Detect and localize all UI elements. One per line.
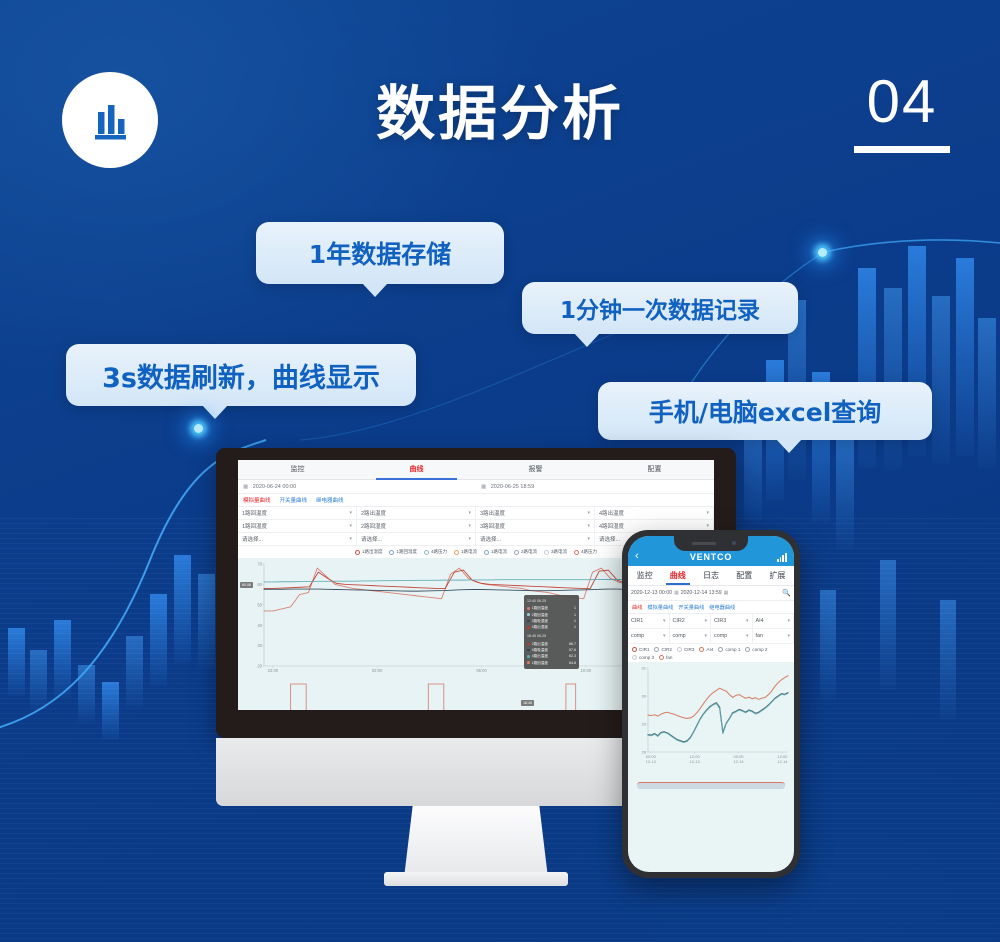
- legend-item[interactable]: CIR2: [654, 647, 671, 652]
- legend-marker-icon: [718, 647, 723, 652]
- legend-label: comp 1: [725, 647, 740, 652]
- legend-marker-icon: [677, 647, 682, 652]
- tooltip-marker-icon: [527, 649, 530, 652]
- legend-item[interactable]: 4路压力: [424, 549, 447, 555]
- desktop-select-3-4-value: 请选择...: [599, 535, 620, 543]
- phone-notch: [674, 536, 748, 551]
- legend-item[interactable]: CIR1: [632, 647, 649, 652]
- speaker-icon: [692, 542, 716, 545]
- tooltip-marker-icon: [527, 613, 530, 616]
- tooltip-time-2: 18:45 06-25: [527, 633, 576, 639]
- tooltip-row: 4路出湿度1: [527, 624, 576, 630]
- desktop-sublink-switch[interactable]: 开关量曲线: [280, 496, 308, 504]
- chevron-down-icon: ▾: [349, 523, 352, 529]
- phone-tab-log[interactable]: 日志: [694, 566, 727, 585]
- desktop-chart-x-marker: 18:45: [521, 700, 534, 706]
- legend-marker-icon: [484, 550, 489, 555]
- desktop-select-3-2[interactable]: 请选择...▾: [357, 533, 476, 545]
- desktop-select-3-2-value: 请选择...: [361, 535, 382, 543]
- callout-bubble-refresh-rate: 3s数据刷新，曲线显示: [66, 344, 416, 406]
- desktop-select-1-2[interactable]: 2路出温度▾: [357, 507, 476, 519]
- legend-marker-icon: [699, 647, 704, 652]
- desktop-select-2-2[interactable]: 2路回湿度▾: [357, 520, 476, 532]
- phone-select-ai4-value: AI4: [756, 618, 764, 624]
- tooltip-marker-icon: [527, 643, 530, 646]
- mobile-phone: ‹ VENTCO 监控 曲线 日志 配置 扩展 2020-12-13 00:00…: [622, 530, 800, 878]
- legend-label: 1路电流: [491, 549, 507, 555]
- phone-date-to-value: 2020-12-14 13:59: [681, 590, 722, 596]
- chevron-down-icon: ▾: [787, 633, 790, 639]
- desktop-date-to-value: 2020-06-25 18:59: [491, 484, 534, 490]
- monitor-stand-neck: [404, 806, 548, 878]
- legend-label: 2路电流: [521, 549, 537, 555]
- desktop-select-1-3[interactable]: 3路出温度▾: [476, 507, 595, 519]
- chevron-down-icon: ▾: [706, 510, 709, 516]
- chevron-down-icon: ▾: [663, 633, 666, 639]
- section-number: 04: [854, 72, 950, 153]
- legend-label: 4路压力: [431, 549, 447, 555]
- phone-select-cir2[interactable]: CIR2▾: [670, 614, 712, 628]
- tooltip-label: 1路回温度: [532, 660, 548, 666]
- svg-text:12-13: 12-13: [690, 759, 701, 764]
- phone-sublink-analog[interactable]: 模拟量曲线: [647, 604, 673, 611]
- phone-select-row-2[interactable]: comp▾ comp▾ comp▾ fan▾: [628, 629, 794, 644]
- camera-icon: [732, 541, 736, 545]
- phone-date-from-value: 2020-12-13 00:00: [631, 590, 672, 596]
- tooltip-label: 4路出湿度: [532, 624, 548, 630]
- phone-select-comp3-value: comp: [714, 633, 727, 639]
- desktop-chart-tooltip: 12:40 06-25 1路回温度1 2路回温度1 3路吸湿度1 4路出湿度1 …: [524, 595, 579, 669]
- chevron-down-icon: ▾: [663, 618, 666, 624]
- phone-screen: ‹ VENTCO 监控 曲线 日志 配置 扩展 2020-12-13 00:00…: [628, 536, 794, 872]
- legend-marker-icon: [544, 550, 549, 555]
- legend-marker-icon: [632, 655, 637, 660]
- phone-select-row-1[interactable]: CIR1▾ CIR2▾ CIR3▾ AI4▾: [628, 614, 794, 629]
- desktop-sublink-analog[interactable]: 模拟量曲线: [243, 496, 271, 504]
- desktop-select-1-1-value: 1路回温度: [242, 509, 267, 517]
- svg-text:02:00: 02:00: [372, 668, 383, 673]
- chevron-down-icon: ▾: [468, 510, 471, 516]
- svg-text:22:00: 22:00: [268, 668, 279, 673]
- legend-marker-icon: [659, 655, 664, 660]
- desktop-date-range-row[interactable]: ▦ 2020-06-24 00:00 ▦ 2020-06-25 18:59: [238, 480, 714, 494]
- desktop-date-to[interactable]: ▦ 2020-06-25 18:59: [476, 484, 714, 490]
- legend-item[interactable]: comp 3: [632, 655, 654, 660]
- desktop-tab-curve[interactable]: 曲线: [357, 460, 476, 479]
- phone-tab-curve[interactable]: 曲线: [661, 566, 694, 585]
- tooltip-marker-icon: [527, 626, 530, 629]
- phone-select-comp3[interactable]: comp▾: [711, 629, 753, 643]
- chevron-down-icon: ▾: [468, 523, 471, 529]
- phone-select-fan-value: fan: [756, 633, 764, 639]
- legend-label: 4路压力: [581, 549, 597, 555]
- legend-label: 1路回温度: [396, 549, 417, 555]
- phone-select-cir1[interactable]: CIR1▾: [628, 614, 670, 628]
- desktop-select-1-2-value: 2路出温度: [361, 509, 386, 517]
- desktop-select-2-1-value: 1路回湿度: [242, 522, 267, 530]
- glow-node-right: [818, 248, 827, 257]
- svg-text:60: 60: [257, 582, 262, 587]
- svg-text:31: 31: [642, 666, 647, 671]
- legend-marker-icon: [514, 550, 519, 555]
- svg-text:40: 40: [257, 623, 262, 628]
- phone-date-to[interactable]: 2020-12-14 13:59 ▦: [681, 590, 729, 596]
- tooltip-time-1: 12:40 06-25: [527, 598, 576, 604]
- phone-select-ai4[interactable]: AI4▾: [753, 614, 795, 628]
- callout-bubble-excel-query: 手机/电脑excel查询: [598, 382, 932, 440]
- legend-label: 1路出温度: [362, 549, 383, 555]
- legend-label: 1路电流: [461, 549, 477, 555]
- phone-select-cir3-value: CIR3: [714, 618, 726, 624]
- desktop-select-2-2-value: 2路回湿度: [361, 522, 386, 530]
- legend-item[interactable]: 4路压力: [574, 549, 597, 555]
- chevron-down-icon: ▾: [704, 633, 707, 639]
- page-title: 数据分析: [0, 66, 1000, 151]
- legend-label: fan: [666, 655, 672, 660]
- legend-marker-icon: [454, 550, 459, 555]
- chevron-down-icon: ▾: [704, 618, 707, 624]
- callout-bubble-record-interval: 1分钟一次数据记录: [522, 282, 798, 334]
- desktop-select-3-1-value: 请选择...: [242, 535, 263, 543]
- calendar-icon: ▦: [674, 590, 679, 596]
- tooltip-value: 64.8: [569, 660, 576, 666]
- desktop-select-2-1[interactable]: 1路回湿度▾: [238, 520, 357, 532]
- tooltip-marker-icon: [527, 620, 530, 623]
- section-number-rule: [854, 146, 950, 153]
- desktop-date-from[interactable]: ▦ 2020-06-24 00:00: [238, 484, 476, 490]
- legend-marker-icon: [654, 647, 659, 652]
- chevron-down-icon: ▾: [587, 536, 590, 542]
- legend-marker-icon: [632, 647, 637, 652]
- legend-marker-icon: [355, 550, 360, 555]
- svg-text:20: 20: [257, 664, 262, 669]
- desktop-select-2-3-value: 3路回湿度: [480, 522, 505, 530]
- chevron-down-icon: ▾: [787, 618, 790, 624]
- svg-text:10:00: 10:00: [581, 668, 592, 673]
- desktop-select-1-1[interactable]: 1路回温度▾: [238, 507, 357, 519]
- phone-select-comp1[interactable]: comp▾: [628, 629, 670, 643]
- phone-select-cir1-value: CIR1: [631, 618, 643, 624]
- calendar-icon: ▦: [724, 590, 729, 596]
- desktop-sublink-row[interactable]: 模拟量曲线 开关量曲线 继电器曲线: [238, 494, 714, 507]
- svg-text:12-13: 12-13: [646, 759, 657, 764]
- legend-label: CIR2: [661, 647, 671, 652]
- chevron-down-icon: ▾: [706, 523, 709, 529]
- legend-item[interactable]: 1路电流: [484, 549, 507, 555]
- desktop-select-3-1[interactable]: 请选择...▾: [238, 533, 357, 545]
- legend-label: AI4: [706, 647, 713, 652]
- legend-item[interactable]: 2路电流: [514, 549, 537, 555]
- chevron-down-icon: ▾: [349, 510, 352, 516]
- desktop-tab-alarm[interactable]: 报警: [476, 460, 595, 479]
- desktop-select-1-4-value: 4路出温度: [599, 509, 624, 517]
- phone-sublink-row[interactable]: 曲线 模拟量曲线 开关量曲线 继电器曲线: [628, 601, 794, 614]
- svg-text:12-14: 12-14: [777, 759, 788, 764]
- phone-select-cir2-value: CIR2: [673, 618, 685, 624]
- desktop-select-row-1[interactable]: 1路回温度▾ 2路出温度▾ 3路出温度▾ 4路出温度▾: [238, 507, 714, 520]
- legend-label: comp 2: [752, 647, 767, 652]
- search-icon[interactable]: 🔍: [782, 589, 791, 597]
- desktop-select-1-4[interactable]: 4路出温度▾: [595, 507, 714, 519]
- chevron-down-icon: ▾: [468, 536, 471, 542]
- legend-item[interactable]: 3路电流: [544, 549, 567, 555]
- desktop-tab-monitor[interactable]: 监控: [238, 460, 357, 479]
- svg-text:30: 30: [642, 694, 647, 699]
- desktop-select-3-3[interactable]: 请选择...▾: [476, 533, 595, 545]
- phone-sublink-switch[interactable]: 开关量曲线: [678, 604, 704, 611]
- desktop-select-3-3-value: 请选择...: [480, 535, 501, 543]
- svg-text:30: 30: [257, 643, 262, 648]
- svg-text:29: 29: [642, 722, 647, 727]
- tooltip-marker-icon: [527, 655, 530, 658]
- svg-text:70: 70: [257, 562, 262, 567]
- desktop-tab-bar[interactable]: 监控 曲线 报警 配置: [238, 460, 714, 480]
- phone-sublink-relay[interactable]: 继电器曲线: [709, 604, 735, 611]
- svg-text:06:00: 06:00: [476, 668, 487, 673]
- phone-chart-scrollbar[interactable]: [637, 782, 785, 789]
- callout-bubble-data-storage: 1年数据存储: [256, 222, 504, 284]
- phone-tab-bar[interactable]: 监控 曲线 日志 配置 扩展: [628, 566, 794, 586]
- tooltip-value: 1: [574, 624, 576, 630]
- legend-marker-icon: [424, 550, 429, 555]
- phone-select-cir3[interactable]: CIR3▾: [711, 614, 753, 628]
- tooltip-marker-icon: [527, 661, 530, 664]
- legend-item[interactable]: 1路出温度: [355, 549, 383, 555]
- legend-marker-icon: [745, 647, 750, 652]
- legend-item[interactable]: AI4: [699, 647, 713, 652]
- chevron-down-icon: ▾: [587, 523, 590, 529]
- phone-chart[interactable]: 3130292800:0012-1312:0012-1300:0012-1412…: [628, 662, 794, 774]
- legend-item[interactable]: fan: [659, 655, 672, 660]
- phone-sublink-curve[interactable]: 曲线: [632, 604, 642, 611]
- tooltip-marker-icon: [527, 607, 530, 610]
- desktop-sublink-relay[interactable]: 继电器曲线: [316, 496, 344, 504]
- phone-select-fan[interactable]: fan▾: [753, 629, 795, 643]
- svg-text:12-14: 12-14: [733, 759, 744, 764]
- calendar-icon: ▦: [243, 484, 248, 490]
- legend-label: CIR3: [684, 647, 694, 652]
- chevron-down-icon: ▾: [587, 510, 590, 516]
- chevron-down-icon: ▾: [746, 633, 749, 639]
- monitor-stand-base: [384, 872, 568, 886]
- page-header: 数据分析 04: [0, 0, 1000, 200]
- phone-chart-legend[interactable]: CIR1 CIR2 CIR3 AI4 comp 1 comp 2 comp 3 …: [628, 644, 794, 662]
- svg-text:50: 50: [257, 602, 262, 607]
- desktop-date-from-value: 2020-06-24 00:00: [253, 484, 296, 490]
- tooltip-row: 1路回温度64.8: [527, 660, 576, 666]
- legend-label: CIR1: [639, 647, 649, 652]
- legend-item[interactable]: comp 2: [745, 647, 767, 652]
- legend-item[interactable]: 1路回温度: [389, 549, 417, 555]
- calendar-icon: ▦: [481, 484, 486, 490]
- legend-marker-icon: [574, 550, 579, 555]
- phone-select-comp1-value: comp: [631, 633, 644, 639]
- phone-tab-config[interactable]: 配置: [728, 566, 761, 585]
- legend-item[interactable]: 1路电流: [454, 549, 477, 555]
- phone-select-comp2[interactable]: comp▾: [670, 629, 712, 643]
- legend-label: comp 3: [639, 655, 654, 660]
- phone-tab-monitor[interactable]: 监控: [628, 566, 661, 585]
- desktop-chart-y-marker: 60.08: [240, 582, 253, 588]
- legend-label: 3路电流: [551, 549, 567, 555]
- phone-brand-title: VENTCO: [628, 552, 794, 562]
- desktop-select-2-3[interactable]: 3路回湿度▾: [476, 520, 595, 532]
- desktop-select-2-4-value: 4路回湿度: [599, 522, 624, 530]
- phone-chart-svg: 3130292800:0012-1312:0012-1300:0012-1412…: [628, 662, 794, 774]
- phone-date-range-row[interactable]: 2020-12-13 00:00 ▦ 2020-12-14 13:59 ▦ 🔍: [628, 586, 794, 601]
- section-number-text: 04: [854, 72, 950, 132]
- legend-item[interactable]: CIR3: [677, 647, 694, 652]
- phone-tab-extend[interactable]: 扩展: [761, 566, 794, 585]
- phone-select-comp2-value: comp: [673, 633, 686, 639]
- glow-node-left: [194, 424, 203, 433]
- legend-marker-icon: [389, 550, 394, 555]
- legend-item[interactable]: comp 1: [718, 647, 740, 652]
- chevron-down-icon: ▾: [746, 618, 749, 624]
- phone-date-from[interactable]: 2020-12-13 00:00 ▦: [631, 590, 679, 596]
- desktop-tab-config[interactable]: 配置: [595, 460, 714, 479]
- chevron-down-icon: ▾: [349, 536, 352, 542]
- desktop-select-1-3-value: 3路出温度: [480, 509, 505, 517]
